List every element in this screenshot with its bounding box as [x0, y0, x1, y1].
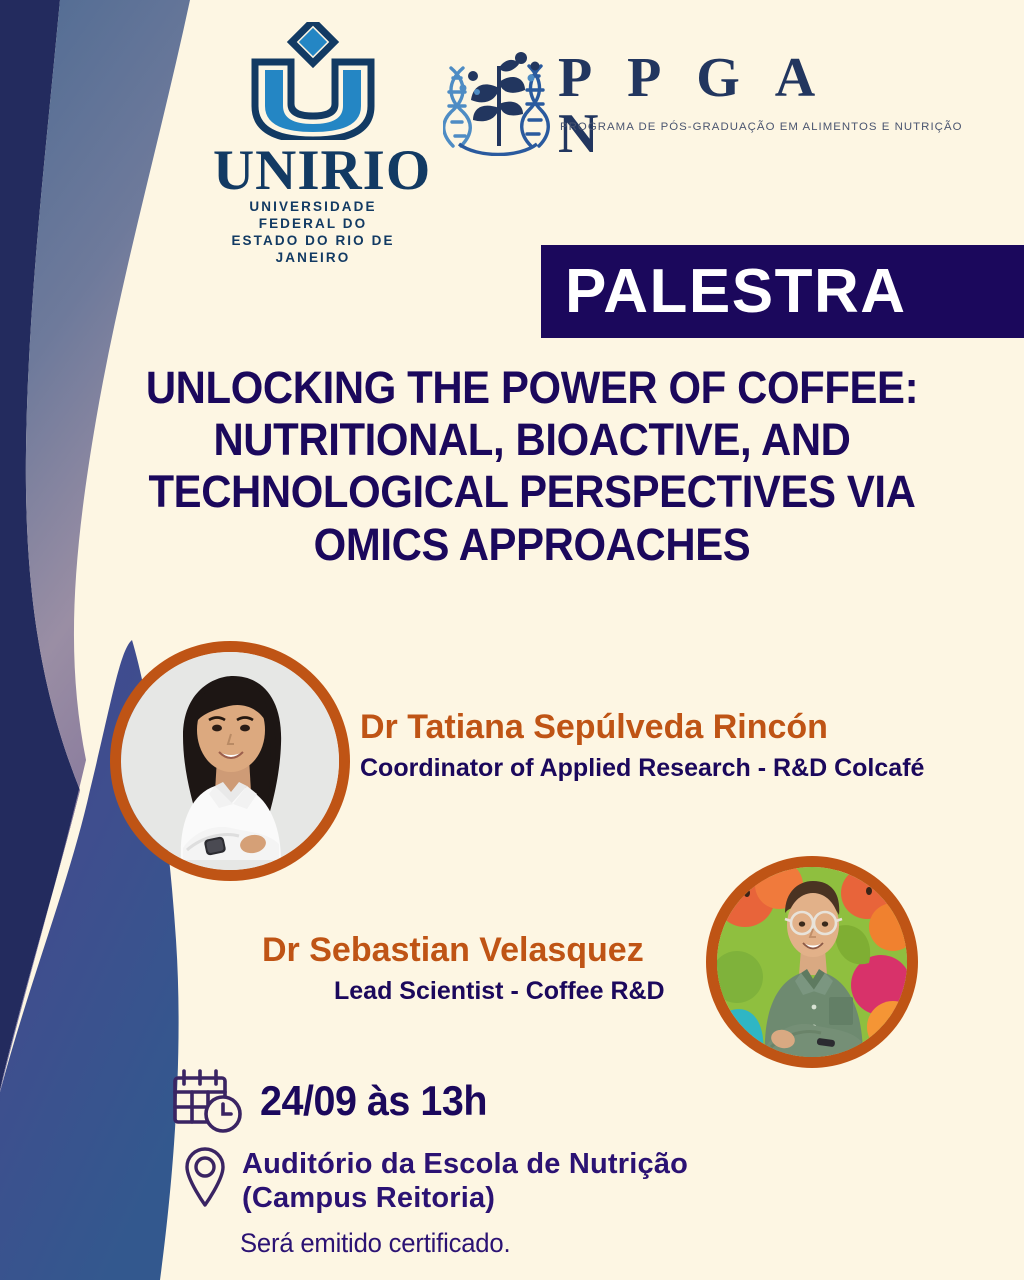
location-row: Auditório da Escola de Nutrição (Campus …	[182, 1146, 688, 1215]
date-time-text: 24/09 às 13h	[260, 1077, 487, 1125]
unirio-subtitle-line2: ESTADO DO RIO DE JANEIRO	[213, 233, 413, 267]
speaker-photo-tatiana-image	[121, 652, 339, 870]
unirio-wordmark: UNIRIO	[213, 142, 413, 199]
palestra-label: PALESTRA	[565, 261, 907, 323]
unirio-logo: UNIRIO UNIVERSIDADE FEDERAL DO ESTADO DO…	[213, 22, 413, 207]
talk-title-line3: TECHNOLOGICAL PERSPECTIVES VIA	[123, 466, 941, 518]
unirio-subtitle-line1: UNIVERSIDADE FEDERAL DO	[213, 199, 413, 233]
logo-row: UNIRIO UNIVERSIDADE FEDERAL DO ESTADO DO…	[0, 0, 1024, 215]
talk-title-line1: UNLOCKING THE POWER OF COFFEE:	[123, 362, 941, 414]
talk-title-line4: OMICS APPROACHES	[123, 519, 941, 571]
talk-title: UNLOCKING THE POWER OF COFFEE: NUTRITION…	[123, 362, 941, 571]
ppgan-wordmark: P P G A N	[558, 50, 863, 162]
speaker-photo-sebastian-image	[717, 867, 907, 1057]
speaker-name-sebastian: Dr Sebastian Velasquez	[262, 932, 644, 969]
ppgan-subtitle: PROGRAMA DE PÓS-GRADUAÇÃO EM ALIMENTOS E…	[560, 121, 963, 133]
location-line2: (Campus Reitoria)	[242, 1182, 688, 1216]
unirio-emblem-icon	[213, 22, 413, 140]
location-line1: Auditório da Escola de Nutrição	[242, 1148, 688, 1182]
event-poster: UNIRIO UNIVERSIDADE FEDERAL DO ESTADO DO…	[0, 0, 1024, 1280]
palestra-banner: PALESTRA	[541, 245, 1024, 338]
calendar-clock-icon	[172, 1068, 244, 1134]
map-pin-icon	[182, 1146, 228, 1208]
location-text: Auditório da Escola de Nutrição (Campus …	[242, 1148, 688, 1215]
certificate-note: Será emitido certificado.	[240, 1228, 510, 1259]
speaker-role-sebastian: Lead Scientist - Coffee R&D	[334, 978, 665, 1006]
talk-title-line2: NUTRITIONAL, BIOACTIVE, AND	[123, 414, 941, 466]
ppgan-plant-dna-emblem-icon	[443, 48, 555, 156]
ppgan-logo: P P G A N PROGRAMA DE PÓS-GRADUAÇÃO EM A…	[443, 48, 863, 158]
speaker-role-tatiana: Coordinator of Applied Research - R&D Co…	[360, 755, 924, 783]
speaker-name-tatiana: Dr Tatiana Sepúlveda Rincón	[360, 709, 828, 746]
date-row: 24/09 às 13h	[172, 1068, 502, 1134]
speaker-photo-sebastian	[706, 856, 918, 1068]
speaker-photo-tatiana	[110, 641, 350, 881]
